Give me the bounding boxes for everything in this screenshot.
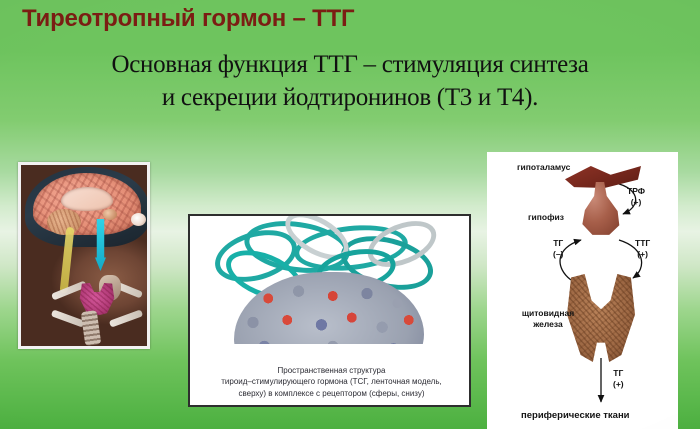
label-ttg-sign: (+)	[635, 249, 650, 260]
label-hypothalamus: гипоталамус	[517, 162, 570, 173]
label-trf-text: ТРФ	[627, 186, 645, 197]
label-ttg: ТТГ (+)	[635, 238, 650, 259]
label-tg-peripheral: ТГ (+)	[613, 368, 624, 389]
protein-structure-image: Пространственная структура тироид–стимул…	[188, 214, 471, 407]
label-trf: ТРФ (+)	[627, 186, 645, 207]
slide-body-text: Основная функция ТТГ – стимуляция синтез…	[10, 48, 690, 114]
label-thyroid-gland: щитовиднаяжелеза	[517, 308, 579, 329]
protein-render	[190, 216, 469, 344]
anatomy-canvas	[21, 165, 147, 346]
caption-line-3: сверху) в комплексе с рецептором (сферы,…	[196, 388, 467, 399]
body-line-1: Основная функция ТТГ – стимуляция синтез…	[10, 48, 690, 81]
eye-icon	[131, 213, 146, 226]
label-peripheral-tissues: периферические ткани	[521, 410, 630, 422]
hpt-axis-diagram: гипоталамус гипофиз щитовиднаяжелеза ТРФ…	[487, 152, 678, 429]
label-hypophysis: гипофиз	[528, 212, 564, 223]
anatomy-illustration	[18, 162, 150, 349]
label-tg-negative-sign: (–)	[553, 249, 563, 260]
label-tg-negative: ТГ (–)	[553, 238, 563, 259]
label-trf-sign: (+)	[627, 197, 645, 208]
pituitary-gland-icon	[103, 209, 117, 220]
label-ttg-text: ТТГ	[635, 238, 650, 249]
page-title: Тиреотропный гормон – ТТГ	[22, 5, 354, 33]
label-tg-negative-text: ТГ	[553, 238, 563, 249]
caption-line-1: Пространственная структура	[196, 365, 467, 376]
label-tg-peripheral-text: ТГ	[613, 368, 624, 379]
caption-line-2: тироид–стимулирующего гормона (ТСГ, лент…	[196, 376, 467, 387]
protein-image-caption: Пространственная структура тироид–стимул…	[196, 365, 467, 399]
label-tg-peripheral-sign: (+)	[613, 379, 624, 390]
cerebellum-icon	[47, 209, 81, 235]
body-line-2: и секреции йодтиронинов (Т3 и Т4).	[10, 81, 690, 114]
corpus-callosum-icon	[61, 187, 113, 211]
